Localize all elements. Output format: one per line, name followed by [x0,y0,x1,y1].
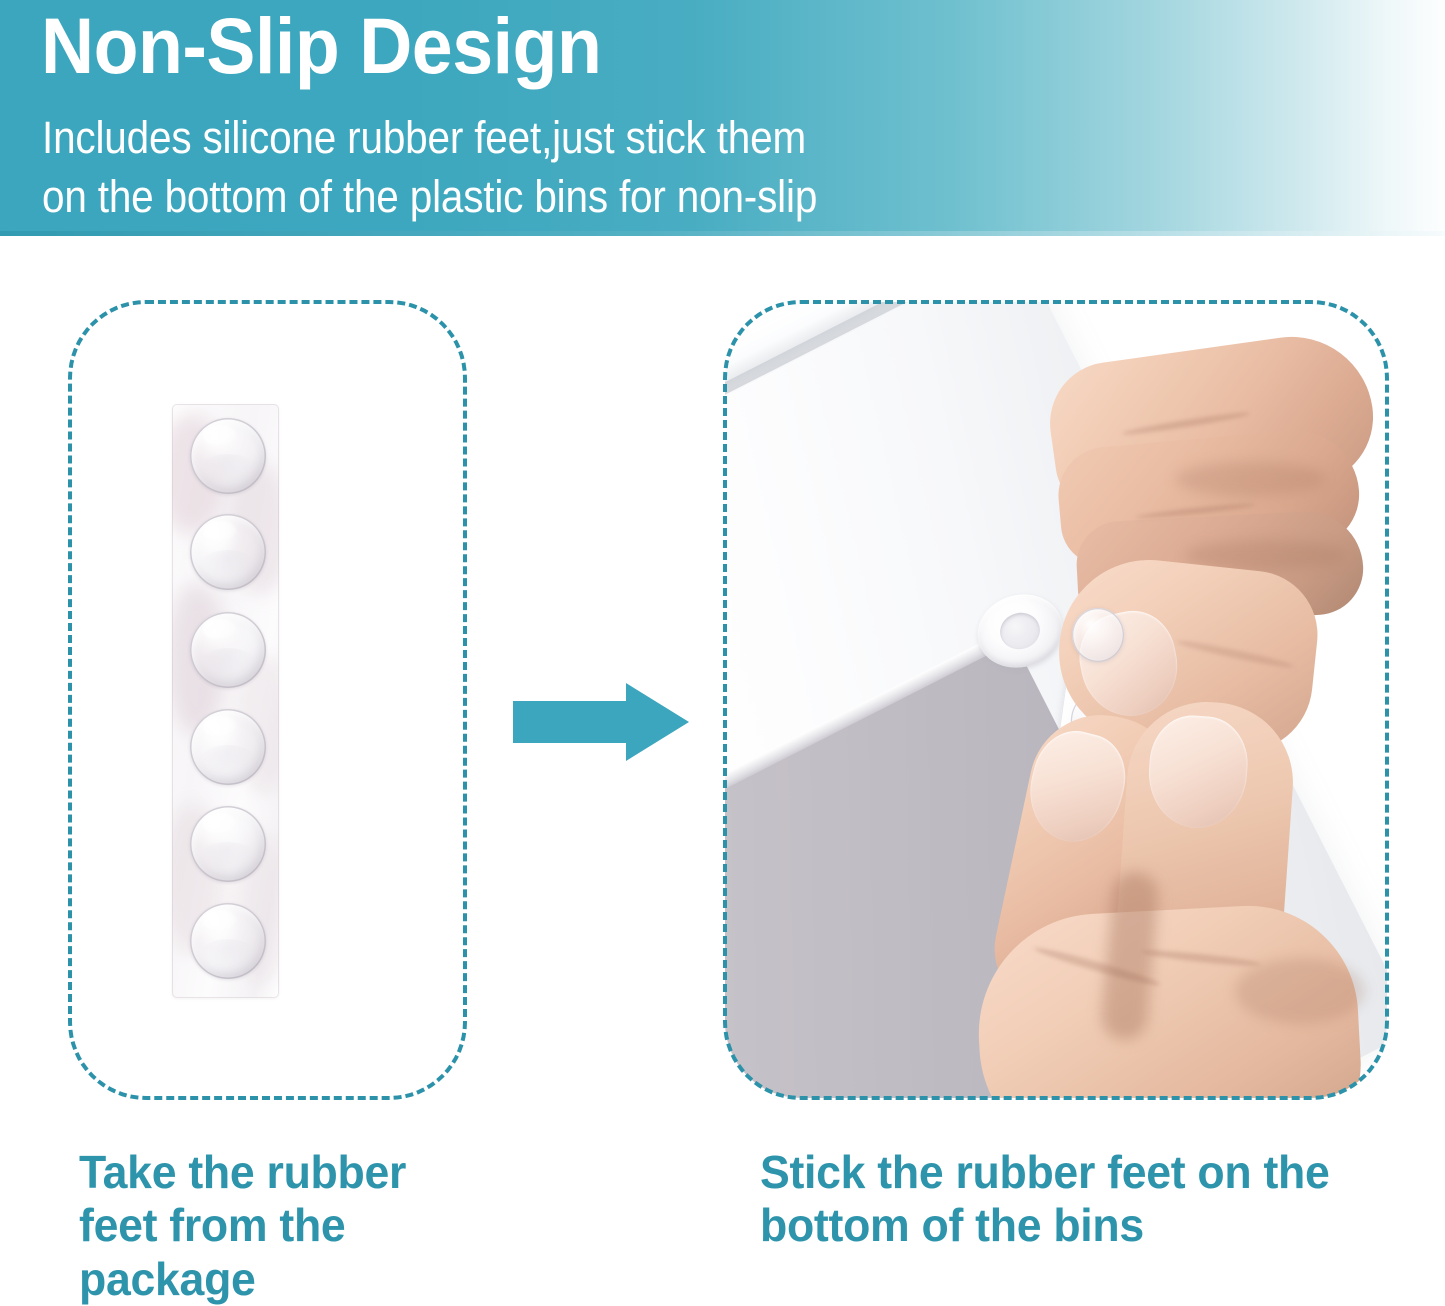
rubber-foot-1 [190,418,266,494]
rubber-foot-3 [190,612,266,688]
page-title: Non-Slip Design [41,4,601,88]
finger-shading [1175,462,1325,496]
rubber-foot-2 [190,514,266,590]
palm-shading [1235,958,1365,1024]
header-subtitle-line-2: on the bottom of the plastic bins for no… [42,174,817,219]
rubber-foot-6 [190,903,266,979]
step-1-caption: Take the rubber feet from the package [79,1146,496,1306]
header-subtitle-line-1: Includes silicone rubber feet,just stick… [42,115,806,160]
step-2-caption: Stick the rubber feet on the bottom of t… [760,1146,1381,1253]
rubber-foot-5 [190,806,266,882]
lower-hand [935,722,1387,1098]
rubber-foot-4 [190,709,266,785]
rubber-feet-strip [172,404,279,998]
header-banner: Non-Slip Design Includes silicone rubber… [0,0,1445,236]
step-2-photo [725,302,1387,1098]
right-arrow-icon [513,683,689,761]
pinched-rubber-foot [1072,608,1124,662]
